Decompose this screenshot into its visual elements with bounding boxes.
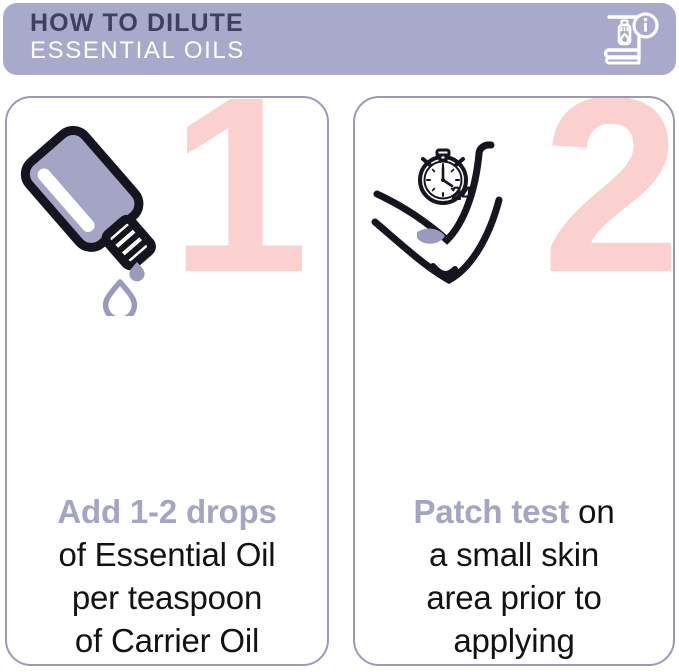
- step-1-highlight: Add 1-2 drops: [57, 493, 276, 530]
- step-1-line-2: per teaspoon: [72, 579, 262, 616]
- header-bar: HOW TO DILUTE ESSENTIAL OILS: [3, 3, 676, 75]
- header-title-group: HOW TO DILUTE ESSENTIAL OILS: [30, 10, 245, 65]
- dropper-bottle-with-drops-illustration: [15, 116, 205, 321]
- step-1-line-1: of Essential Oil: [59, 536, 276, 573]
- step-1-text: Add 1-2 drops of Essential Oil per teasp…: [7, 490, 327, 662]
- step-2-inline: on: [569, 493, 614, 530]
- step-2-text: Patch test on a small skin area prior to…: [355, 490, 673, 666]
- step-1-line-3: of Carrier Oil: [75, 622, 259, 659]
- step-2-line-2: area prior to: [426, 579, 601, 616]
- oil-bottle-info-icon: [600, 9, 662, 71]
- step-2-line-4: to full body: [435, 665, 592, 666]
- arm-patch-test-stopwatch-illustration: 24: [371, 138, 571, 313]
- step-2-line-3: applying: [453, 622, 574, 659]
- page-subtitle: ESSENTIAL OILS: [30, 37, 245, 65]
- page-title: HOW TO DILUTE: [30, 10, 245, 37]
- stopwatch-hours-label: 24: [451, 184, 473, 205]
- step-2-line-1: a small skin: [429, 536, 599, 573]
- step-card-1: 1 Add 1-2 drops of Essential Oil per tea…: [5, 96, 329, 666]
- step-card-2: 2: [353, 96, 675, 666]
- step-2-highlight: Patch test: [414, 493, 570, 530]
